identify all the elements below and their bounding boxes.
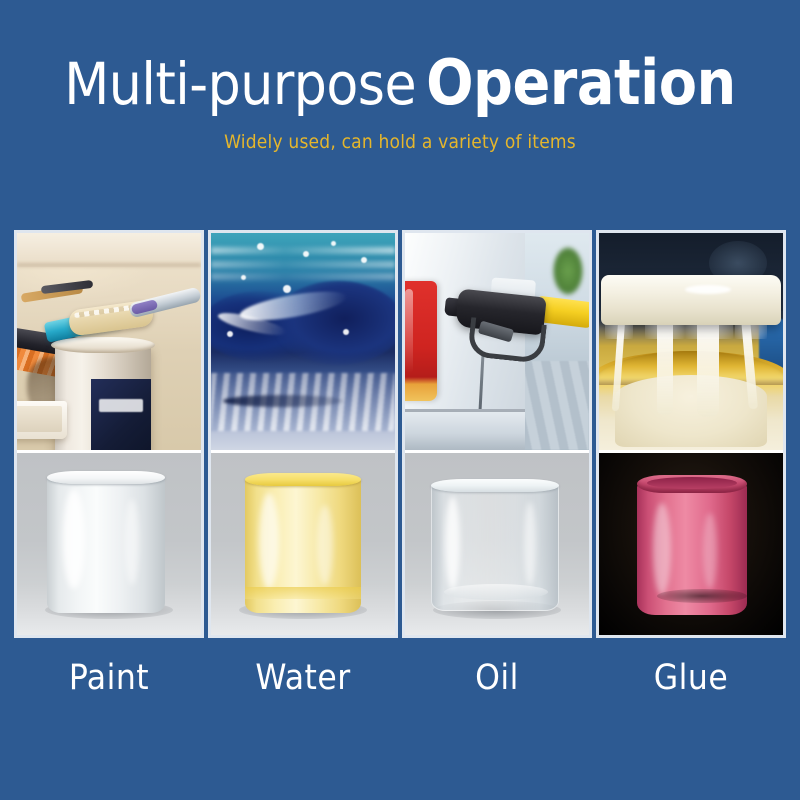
title-light-part: Multi-purpose — [64, 50, 416, 118]
feature-card-row — [17, 233, 783, 635]
product-image-oil — [405, 450, 589, 635]
water-droplet — [303, 251, 309, 257]
car-bumper — [405, 409, 525, 450]
paint-roller-handle — [128, 287, 201, 319]
pail-base-shadow — [657, 589, 747, 603]
pail-body — [431, 485, 559, 611]
pail-body — [637, 485, 747, 615]
pail-liner-clear — [431, 479, 559, 611]
water-droplet — [331, 241, 336, 246]
product-image-water — [211, 450, 395, 635]
pail-highlight-left — [653, 503, 671, 595]
pail-liner-white — [47, 471, 165, 613]
pail-highlight-right — [125, 499, 139, 585]
pail-highlight-right — [703, 513, 717, 589]
pail-liner-yellow — [245, 473, 361, 613]
pail-inner-wall — [647, 477, 737, 489]
caption-glue: Glue — [599, 655, 783, 715]
header: Multi-purposeOperation Widely used, can … — [0, 0, 800, 153]
car-taillight — [405, 281, 437, 401]
poster-root: Multi-purposeOperation Widely used, can … — [0, 0, 800, 800]
scene-image-oil — [405, 233, 589, 450]
pail-rim — [431, 479, 559, 492]
paint-can — [55, 345, 151, 450]
page-subtitle: Widely used, can hold a variety of items — [0, 114, 800, 153]
glue-strand — [697, 319, 719, 417]
water-ripple-band — [211, 273, 395, 280]
pail-rim — [637, 475, 747, 493]
water-dark-streak — [223, 395, 343, 407]
scene-image-glue — [599, 233, 783, 450]
paint-tray — [17, 401, 67, 439]
pail-rim — [245, 473, 361, 486]
paint-can-rim — [51, 337, 155, 353]
pail-liner-pink — [637, 475, 747, 615]
water-droplet — [361, 257, 367, 263]
pail-highlight-left — [445, 496, 460, 590]
paint-wall — [17, 233, 201, 267]
caption-water: Water — [211, 655, 395, 715]
pavement — [523, 361, 589, 450]
glue-strand — [657, 319, 673, 415]
pail-inner-base — [444, 584, 548, 600]
feature-card-glue[interactable] — [599, 233, 783, 635]
pail-lower-band — [245, 587, 361, 599]
feature-card-paint[interactable] — [17, 233, 201, 635]
pail-body — [47, 477, 165, 613]
caption-oil: Oil — [405, 655, 589, 715]
water-droplet — [227, 331, 233, 337]
background-tree — [553, 247, 583, 295]
pail-highlight-right — [317, 505, 333, 585]
title-bold-part: Operation — [426, 46, 736, 119]
water-droplet — [241, 275, 246, 280]
pail-highlight-left — [63, 489, 85, 589]
caption-row: Paint Water Oil Glue — [17, 655, 783, 715]
page-title: Multi-purposeOperation — [0, 0, 800, 114]
pail-highlight-right — [524, 502, 536, 586]
water-ripple-band — [211, 261, 395, 268]
scene-image-paint — [17, 233, 201, 450]
scene-image-water — [211, 233, 395, 450]
caption-paint: Paint — [17, 655, 201, 715]
feature-card-oil[interactable] — [405, 233, 589, 635]
pail-rim — [47, 471, 165, 484]
product-image-paint — [17, 450, 201, 635]
feature-card-water[interactable] — [211, 233, 395, 635]
paint-can-label — [55, 379, 151, 450]
product-image-glue — [599, 450, 783, 635]
glue-slab — [601, 275, 781, 325]
water-droplet — [283, 285, 291, 293]
pail-body — [245, 479, 361, 613]
water-droplet — [257, 243, 264, 250]
glue-pool — [615, 375, 767, 447]
water-droplet — [343, 329, 349, 335]
pail-highlight-left — [259, 493, 279, 589]
